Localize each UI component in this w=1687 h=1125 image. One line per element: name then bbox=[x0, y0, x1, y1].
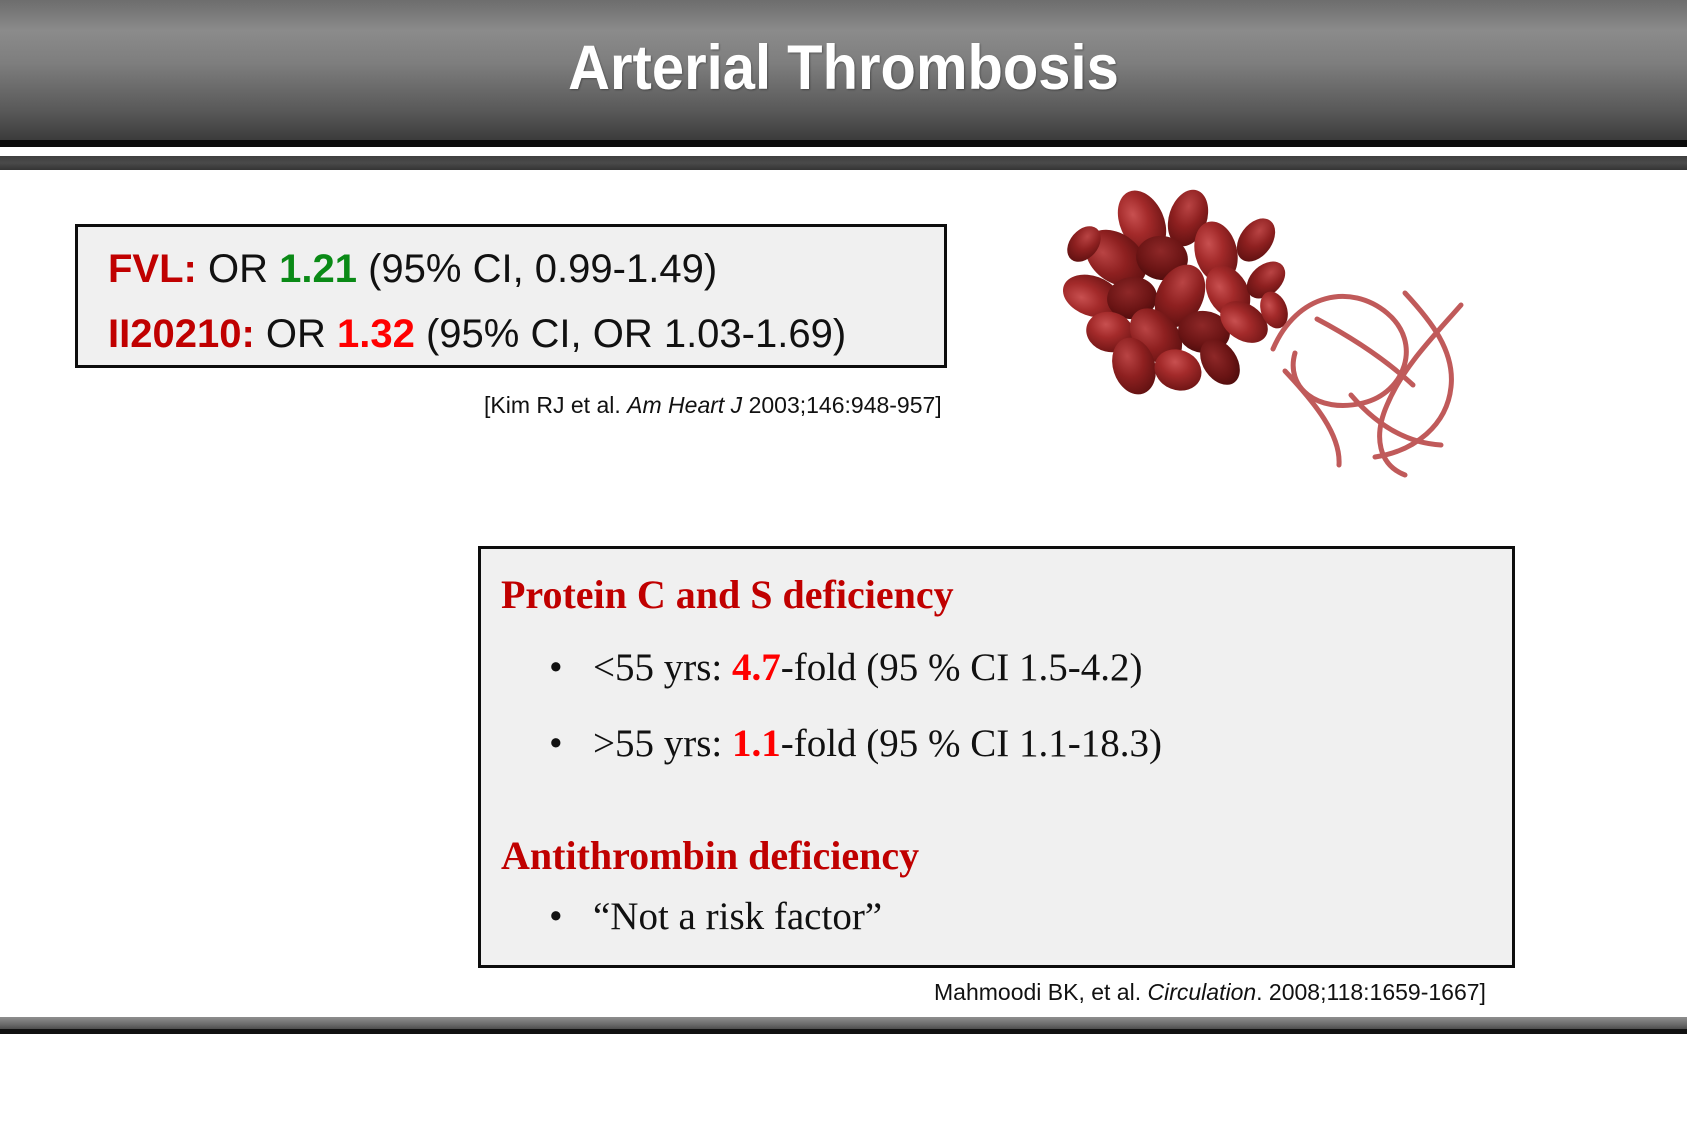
header-accent-bar bbox=[0, 156, 1687, 170]
fvl-label: FVL: bbox=[108, 247, 197, 291]
bullet-dot-icon: • bbox=[549, 645, 593, 690]
citation-top-post: 2003;146:948-957] bbox=[742, 392, 942, 418]
bullet-2-post: -fold (95 % CI 1.1-18.3) bbox=[781, 722, 1162, 765]
ii20210-result-line: II20210: OR 1.32 (95% CI, OR 1.03-1.69) bbox=[108, 312, 846, 357]
citation-bottom-journal: Circulation bbox=[1148, 979, 1257, 1005]
citation-bottom-pre: Mahmoodi BK, et al. bbox=[934, 979, 1148, 1005]
bullet-dot-icon: • bbox=[549, 894, 593, 939]
ii20210-or-value: 1.32 bbox=[337, 312, 415, 356]
citation-top-pre: [Kim RJ et al. bbox=[484, 392, 627, 418]
fvl-result-line: FVL: OR 1.21 (95% CI, 0.99-1.49) bbox=[108, 247, 717, 292]
ii20210-label: II20210: bbox=[108, 312, 255, 356]
citation-top-journal: Am Heart J bbox=[627, 392, 742, 418]
protein-cs-heading: Protein C and S deficiency bbox=[501, 571, 954, 618]
list-item: •<55 yrs: 4.7-fold (95 % CI 1.5-4.2) bbox=[549, 645, 1143, 690]
slide-footer-bar bbox=[0, 1017, 1687, 1029]
bullet-3-text: “Not a risk factor” bbox=[593, 895, 882, 938]
header-divider-line bbox=[0, 140, 1687, 147]
ii20210-ci: (95% CI, OR 1.03-1.69) bbox=[415, 312, 846, 356]
bullet-1-pre: <55 yrs: bbox=[593, 646, 732, 689]
or-summary-panel: FVL: OR 1.21 (95% CI, 0.99-1.49) II20210… bbox=[75, 224, 947, 368]
slide-canvas: Arterial Thrombosis FVL: OR 1.21 (95% CI… bbox=[0, 0, 1687, 1125]
citation-bottom-post: . 2008;118:1659-1667] bbox=[1256, 979, 1486, 1005]
fibrin-strands-icon bbox=[1255, 275, 1485, 490]
footer-divider-line bbox=[0, 1029, 1687, 1034]
list-item: •“Not a risk factor” bbox=[549, 894, 882, 939]
fvl-or-value: 1.21 bbox=[279, 247, 357, 291]
deficiency-panel: Protein C and S deficiency •<55 yrs: 4.7… bbox=[478, 546, 1515, 968]
citation-top: [Kim RJ et al. Am Heart J 2003;146:948-9… bbox=[484, 392, 942, 419]
bullet-dot-icon: • bbox=[549, 721, 593, 766]
fvl-or-word: OR bbox=[197, 247, 279, 291]
bullet-2-pre: >55 yrs: bbox=[593, 722, 732, 765]
antithrombin-heading: Antithrombin deficiency bbox=[501, 832, 919, 879]
bullet-1-post: -fold (95 % CI 1.5-4.2) bbox=[781, 646, 1143, 689]
header-gap bbox=[0, 147, 1687, 156]
page-title: Arterial Thrombosis bbox=[67, 32, 1619, 104]
bullet-1-value: 4.7 bbox=[732, 646, 781, 689]
citation-bottom: Mahmoodi BK, et al. Circulation. 2008;11… bbox=[934, 979, 1486, 1006]
bullet-2-value: 1.1 bbox=[732, 722, 781, 765]
fvl-ci: (95% CI, 0.99-1.49) bbox=[357, 247, 717, 291]
list-item: •>55 yrs: 1.1-fold (95 % CI 1.1-18.3) bbox=[549, 721, 1162, 766]
ii20210-or-word: OR bbox=[255, 312, 337, 356]
